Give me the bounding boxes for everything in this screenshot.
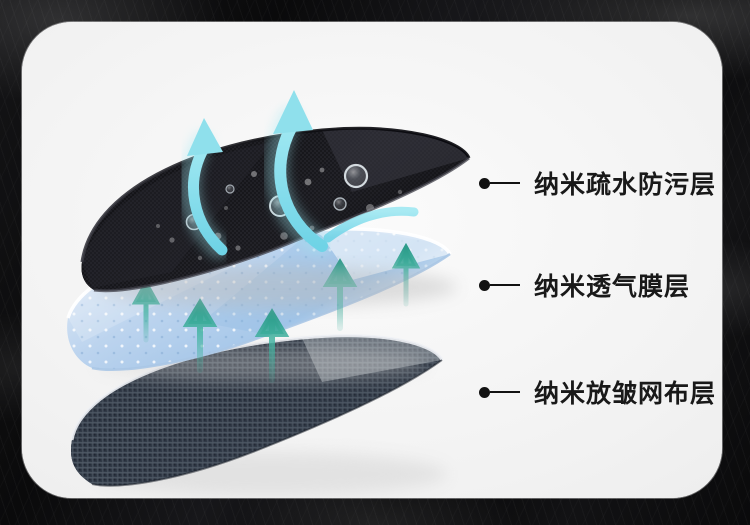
infographic-canvas: 纳米疏水防污层 纳米透气膜层 纳米放皱网布层 <box>0 0 750 525</box>
leader-line-icon <box>490 182 520 184</box>
callout-label-3: 纳米放皱网布层 <box>534 374 716 410</box>
leader-line-icon <box>490 284 520 286</box>
bullet-dot-icon <box>479 178 490 189</box>
bullet-dot-icon <box>479 280 490 291</box>
white-rounded-card: 纳米疏水防污层 纳米透气膜层 纳米放皱网布层 <box>22 22 722 498</box>
callout-labels: 纳米疏水防污层 纳米透气膜层 纳米放皱网布层 <box>22 22 722 498</box>
callout-nano-breathable: 纳米透气膜层 <box>479 267 690 303</box>
callout-nano-mesh: 纳米放皱网布层 <box>479 374 716 410</box>
bullet-dot-icon <box>479 387 490 398</box>
callout-label-1: 纳米疏水防污层 <box>534 165 716 201</box>
callout-label-2: 纳米透气膜层 <box>534 267 690 303</box>
leader-line-icon <box>490 391 520 393</box>
callout-nano-hydrophobic: 纳米疏水防污层 <box>479 165 716 201</box>
